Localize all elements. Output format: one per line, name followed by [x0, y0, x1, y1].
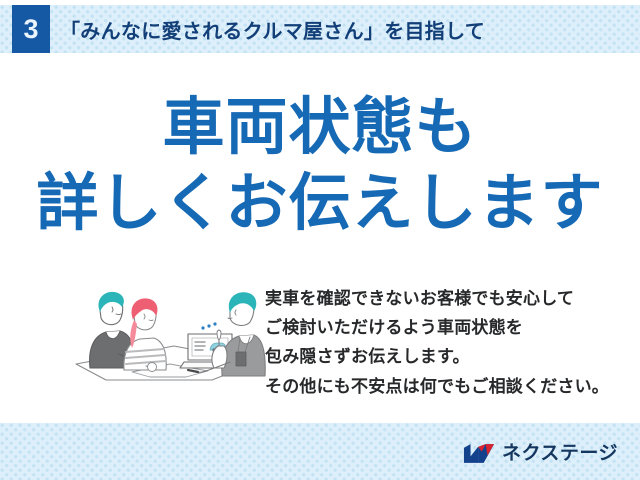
nextage-n-mark-icon	[463, 442, 495, 465]
body-line-1: 実車を確認できないお客様でも安心して	[265, 284, 615, 313]
body-line-4: その他にも不安点は何でもご相談ください。	[265, 372, 615, 401]
header-title: 「みんなに愛されるクルマ屋さん」を目指して	[60, 5, 485, 53]
body-line-2: ご検討いただけるよう車両状態を	[265, 313, 615, 342]
headline-line-2: 詳しくお伝えします	[0, 171, 640, 237]
promo-slide: 3 「みんなに愛されるクルマ屋さん」を目指して 車両状態も 詳しくお伝えします	[0, 0, 640, 480]
headline-line-1: 車両状態も	[0, 95, 640, 161]
body-copy: 実車を確認できないお客様でも安心して ご検討いただけるよう車両状態を 包み隠さず…	[265, 284, 615, 401]
nextage-logo-text: ネクステージ	[502, 444, 618, 463]
consultation-illustration-svg	[62, 276, 267, 388]
consultation-illustration	[62, 276, 267, 388]
body-line-3: 包み隠さずお伝えします。	[265, 342, 615, 371]
step-number-badge: 3	[12, 5, 50, 53]
page-headline: 車両状態も 詳しくお伝えします	[0, 95, 640, 236]
nextage-logo: ネクステージ	[463, 440, 618, 466]
